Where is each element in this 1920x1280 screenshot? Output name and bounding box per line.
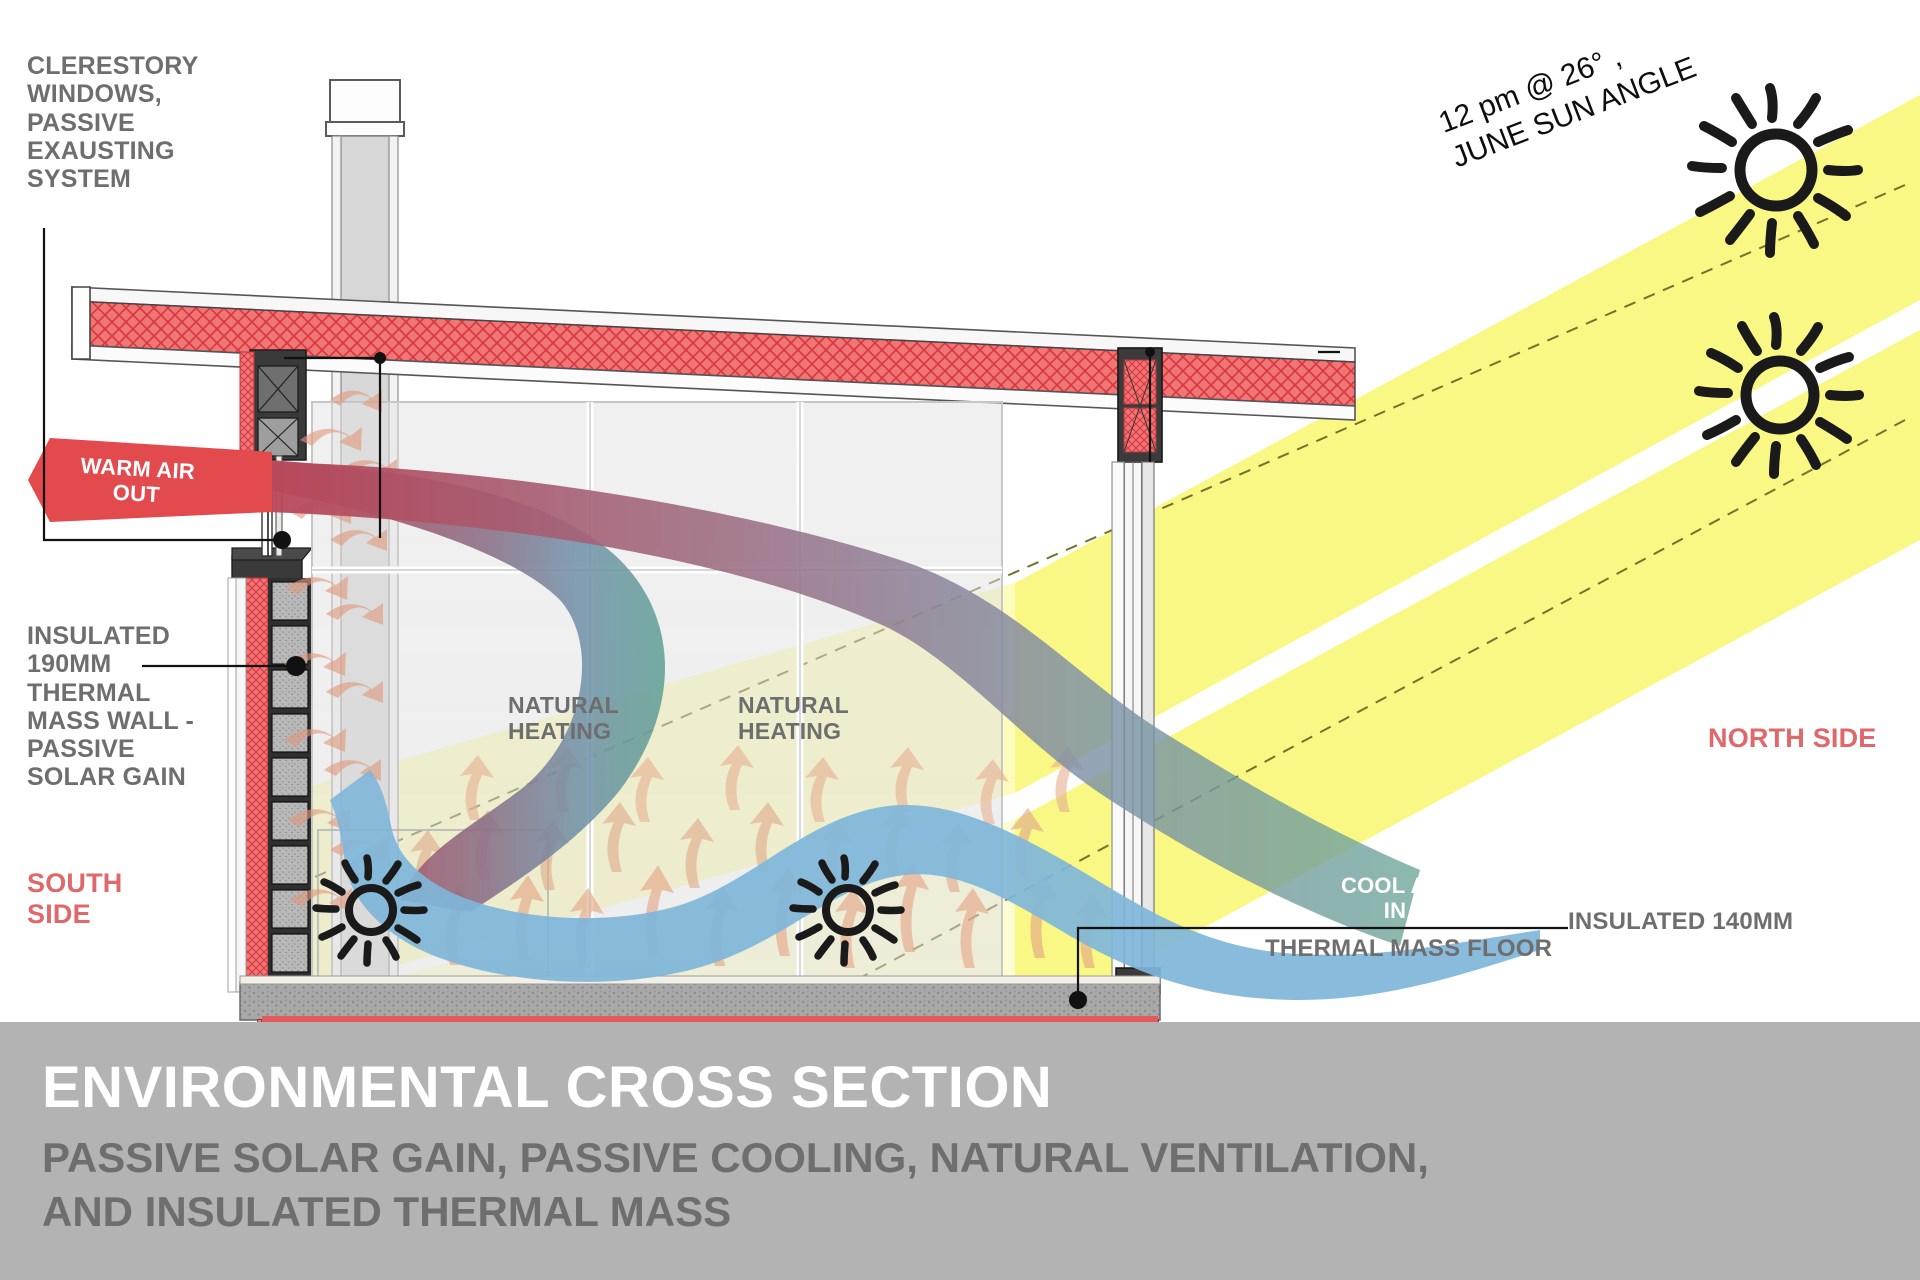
page-subtitle-line-1: PASSIVE SOLAR GAIN, PASSIVE COOLING, NAT… bbox=[42, 1134, 1429, 1182]
label-insulated-floor: INSULATED 140MM THERMAL MASS FLOOR bbox=[1568, 908, 1793, 962]
label-floor-line-2: THERMAL MASS FLOOR bbox=[1265, 935, 1793, 962]
label-insulated-wall: INSULATED 190MM THERMAL MASS WALL - PASS… bbox=[27, 622, 194, 792]
label-floor-line-1: INSULATED 140MM bbox=[1568, 908, 1793, 935]
environmental-cross-section-diagram: CLERESTORY WINDOWS, PASSIVE EXAUSTING SY… bbox=[0, 0, 1920, 1280]
label-clerestory-line-5: SYSTEM bbox=[27, 165, 198, 193]
title-banner: ENVIRONMENTAL CROSS SECTION PASSIVE SOLA… bbox=[0, 1022, 1920, 1280]
label-south-side-line-1: SOUTH bbox=[27, 868, 123, 899]
label-wall-line-4: MASS WALL - bbox=[27, 707, 194, 735]
label-clerestory-line-4: EXAUSTING bbox=[27, 137, 198, 165]
label-cool-air-in-line-1: COOL AIR bbox=[1330, 874, 1460, 899]
label-cool-air-in-line-2: IN bbox=[1330, 899, 1460, 924]
label-wall-line-5: PASSIVE bbox=[27, 735, 194, 763]
label-wall-line-3: THERMAL bbox=[27, 679, 194, 707]
label-south-side-line-2: SIDE bbox=[27, 899, 123, 930]
page-subtitle-line-2: AND INSULATED THERMAL MASS bbox=[42, 1188, 731, 1236]
label-north-side: NORTH SIDE bbox=[1708, 723, 1877, 754]
label-natural-heating-left-line-2: HEATING bbox=[508, 718, 619, 744]
label-wall-line-1: INSULATED bbox=[27, 622, 194, 650]
label-natural-heating-left: NATURAL HEATING bbox=[508, 692, 619, 744]
wall-insulation bbox=[246, 578, 268, 992]
label-north-side-text: NORTH SIDE bbox=[1708, 723, 1877, 753]
page-title: ENVIRONMENTAL CROSS SECTION bbox=[42, 1054, 1052, 1121]
floor-slab-concrete bbox=[240, 982, 1160, 1020]
label-clerestory-line-2: WINDOWS, bbox=[27, 80, 198, 108]
label-clerestory-line-3: PASSIVE bbox=[27, 109, 198, 137]
label-cool-air-in: COOL AIR IN bbox=[1330, 874, 1460, 924]
label-natural-heating-right-line-1: NATURAL bbox=[738, 692, 849, 718]
label-wall-line-6: SOLAR GAIN bbox=[27, 763, 194, 791]
label-warm-air-out: WARM AIR OUT bbox=[61, 453, 214, 511]
label-clerestory-windows: CLERESTORY WINDOWS, PASSIVE EXAUSTING SY… bbox=[27, 52, 198, 193]
label-clerestory-line-1: CLERESTORY bbox=[27, 52, 198, 80]
masonry-blocks bbox=[268, 578, 312, 992]
roof-edge-left bbox=[72, 287, 90, 359]
label-natural-heating-left-line-1: NATURAL bbox=[508, 692, 619, 718]
label-wall-line-2: 190MM bbox=[27, 650, 194, 678]
label-south-side: SOUTH SIDE bbox=[27, 868, 123, 929]
label-natural-heating-right-line-2: HEATING bbox=[738, 718, 849, 744]
label-natural-heating-right: NATURAL HEATING bbox=[738, 692, 849, 744]
